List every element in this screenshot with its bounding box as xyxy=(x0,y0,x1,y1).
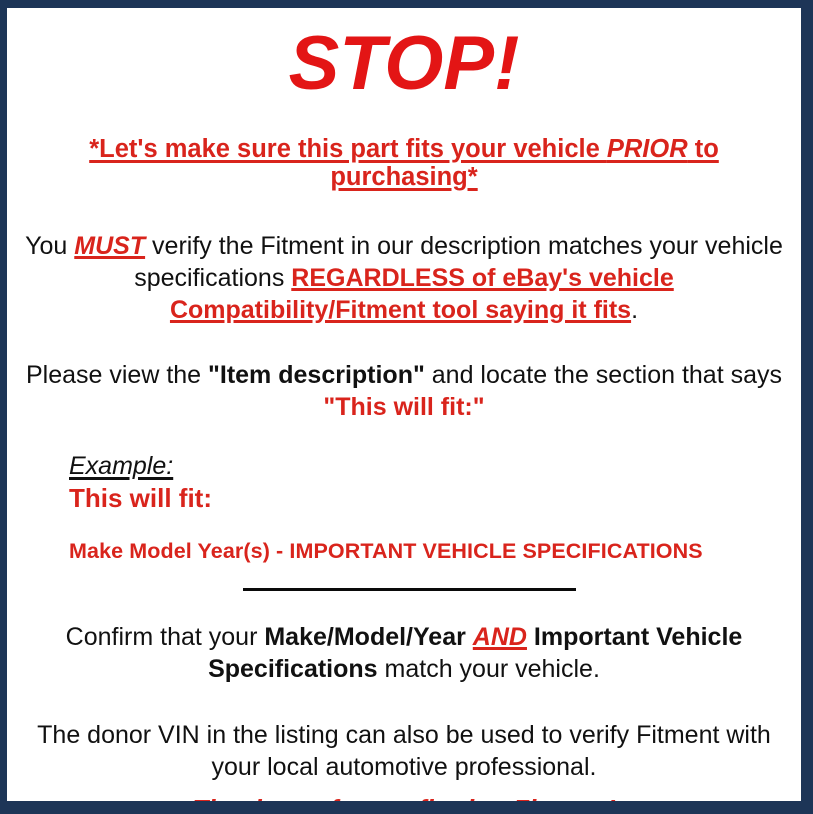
confirm-paragraph: Confirm that your Make/Model/Year AND Im… xyxy=(21,621,787,685)
please-part1: Please view the xyxy=(26,361,208,389)
subhead-banner: *Let's make sure this part fits your veh… xyxy=(21,135,787,194)
fitment-notice-card: STOP! *Let's make sure this part fits yo… xyxy=(0,0,813,814)
emphasis-must: MUST xyxy=(74,232,145,260)
example-label: Example: xyxy=(69,453,173,481)
item-description-label: "Item description" xyxy=(208,361,425,389)
example-block: Example: This will fit: Make Model Year(… xyxy=(21,453,787,564)
emphasis-and: AND xyxy=(473,623,527,651)
example-fit-heading: This will fit: xyxy=(69,484,787,514)
subhead-emphasis-prior: PRIOR xyxy=(607,135,688,163)
example-label-row: Example: xyxy=(69,453,787,481)
example-spec-line: Make Model Year(s) - IMPORTANT VEHICLE S… xyxy=(69,539,787,564)
confirm-space1 xyxy=(466,623,473,651)
please-view-paragraph: Please view the "Item description" and l… xyxy=(21,359,787,423)
confirm-part1: Confirm that your xyxy=(66,623,265,651)
confirm-space2 xyxy=(527,623,534,651)
page-title: STOP! xyxy=(21,26,787,102)
horizontal-rule-divider xyxy=(243,588,576,591)
closing-thank-you: Thank you for confirming Fitment! xyxy=(21,795,787,801)
must-verify-paragraph: You MUST verify the Fitment in our descr… xyxy=(21,230,787,326)
divider-wrap xyxy=(21,588,787,591)
this-will-fit-quote: "This will fit:" xyxy=(323,393,484,421)
must-part3: . xyxy=(631,296,638,324)
must-part1: You xyxy=(25,232,74,260)
confirm-part2: match your vehicle. xyxy=(378,655,600,683)
notice-body: STOP! *Let's make sure this part fits yo… xyxy=(7,8,801,801)
please-part2: and locate the section that says xyxy=(425,361,782,389)
donor-vin-paragraph: The donor VIN in the listing can also be… xyxy=(21,719,787,783)
subhead-lead-text: *Let's make sure this part fits your veh… xyxy=(89,135,607,163)
make-model-year-label: Make/Model/Year xyxy=(264,623,465,651)
